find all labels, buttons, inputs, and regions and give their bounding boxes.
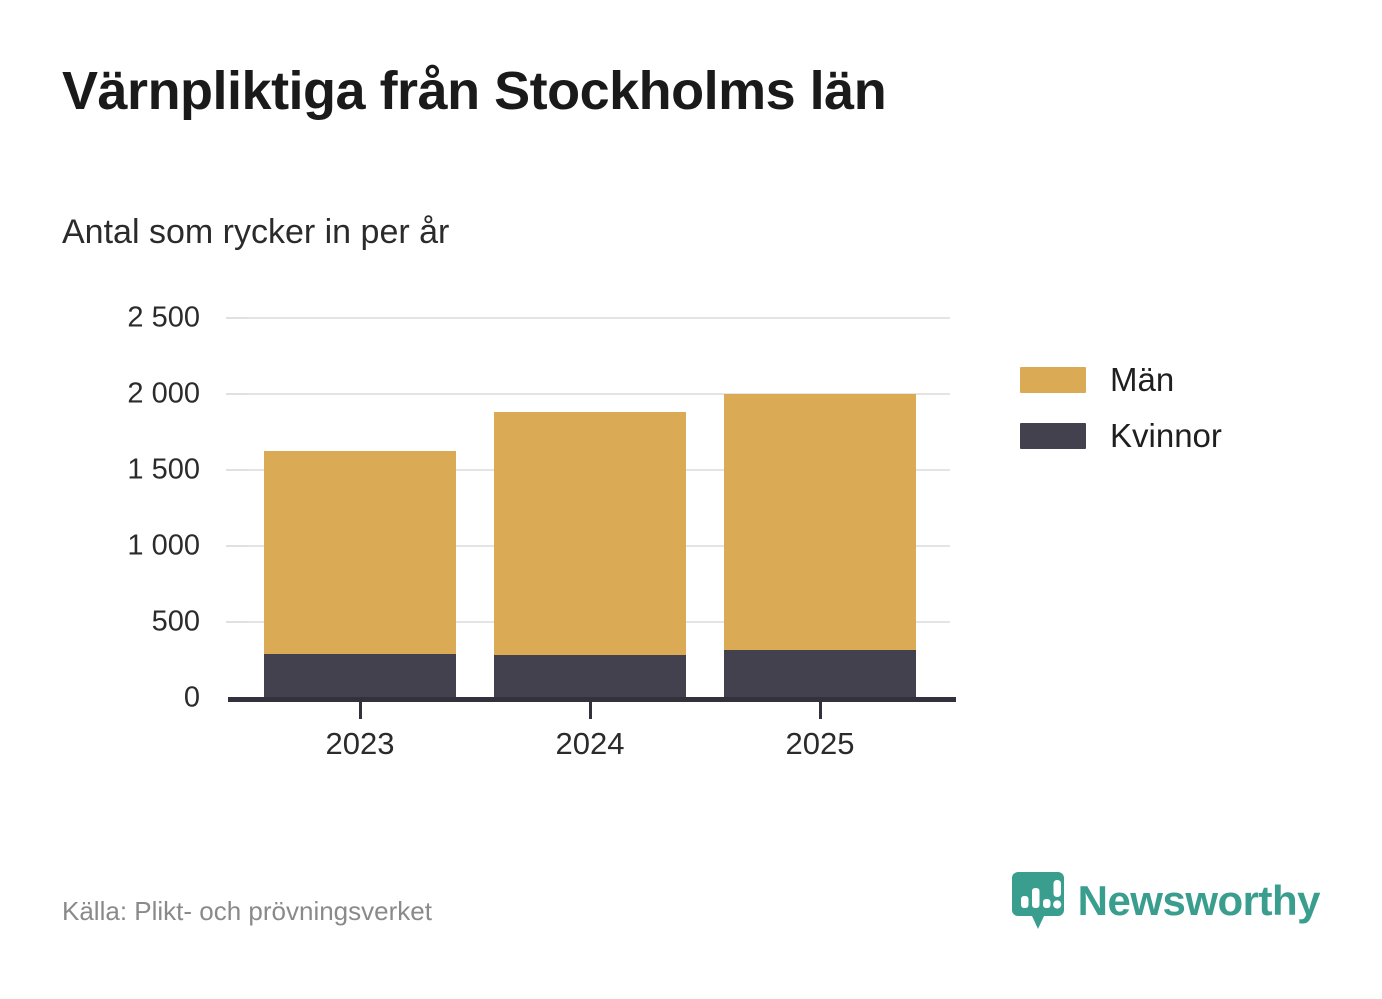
y-axis-tick-label: 2 500 bbox=[50, 302, 200, 335]
bar-segment-kvinnor-2025[interactable] bbox=[724, 650, 916, 698]
y-tick-stub bbox=[226, 469, 248, 471]
x-tick bbox=[359, 702, 362, 719]
legend-swatch bbox=[1020, 367, 1086, 393]
bar-segment-män-2024[interactable] bbox=[494, 412, 686, 654]
y-tick-stub bbox=[226, 545, 248, 547]
x-tick bbox=[819, 702, 822, 719]
y-tick-stub bbox=[226, 393, 248, 395]
y-axis-tick-label: 2 000 bbox=[50, 378, 200, 411]
brand-name: Newsworthy bbox=[1078, 877, 1320, 925]
bar-segment-män-2025[interactable] bbox=[724, 394, 916, 650]
x-tick bbox=[589, 702, 592, 719]
bar-stack-2023[interactable] bbox=[264, 318, 456, 698]
bar-segment-kvinnor-2023[interactable] bbox=[264, 654, 456, 698]
bar-stack-2025[interactable] bbox=[724, 318, 916, 698]
legend-label: Män bbox=[1110, 361, 1174, 399]
legend: MänKvinnor bbox=[1020, 352, 1350, 464]
y-axis-tick-label: 0 bbox=[50, 682, 200, 715]
bar-segment-män-2023[interactable] bbox=[264, 451, 456, 654]
legend-item-kvinnor[interactable]: Kvinnor bbox=[1020, 408, 1350, 464]
y-axis-tick-label: 1 000 bbox=[50, 530, 200, 563]
y-tick-stub bbox=[226, 317, 248, 319]
plot-area: 05001 0001 5002 0002 500 202320242025 bbox=[0, 0, 1382, 999]
x-axis-tick-label: 2025 bbox=[720, 726, 920, 762]
y-axis-tick-label: 500 bbox=[50, 606, 200, 639]
newsworthy-bar-chart-bubble-icon bbox=[1012, 872, 1064, 930]
x-axis-tick-label: 2024 bbox=[490, 726, 690, 762]
source-note: Källa: Plikt- och prövningsverket bbox=[62, 896, 432, 927]
legend-label: Kvinnor bbox=[1110, 417, 1222, 455]
bar-stack-2024[interactable] bbox=[494, 318, 686, 698]
bar-segment-kvinnor-2024[interactable] bbox=[494, 655, 686, 698]
x-axis-tick-label: 2023 bbox=[260, 726, 460, 762]
y-axis-tick-label: 1 500 bbox=[50, 454, 200, 487]
brand-logo: Newsworthy bbox=[1012, 872, 1320, 930]
x-axis-line bbox=[228, 697, 956, 702]
y-tick-stub bbox=[226, 621, 248, 623]
legend-item-män[interactable]: Män bbox=[1020, 352, 1350, 408]
chart-page: Värnpliktiga från Stockholms län Antal s… bbox=[0, 0, 1382, 999]
legend-swatch bbox=[1020, 423, 1086, 449]
